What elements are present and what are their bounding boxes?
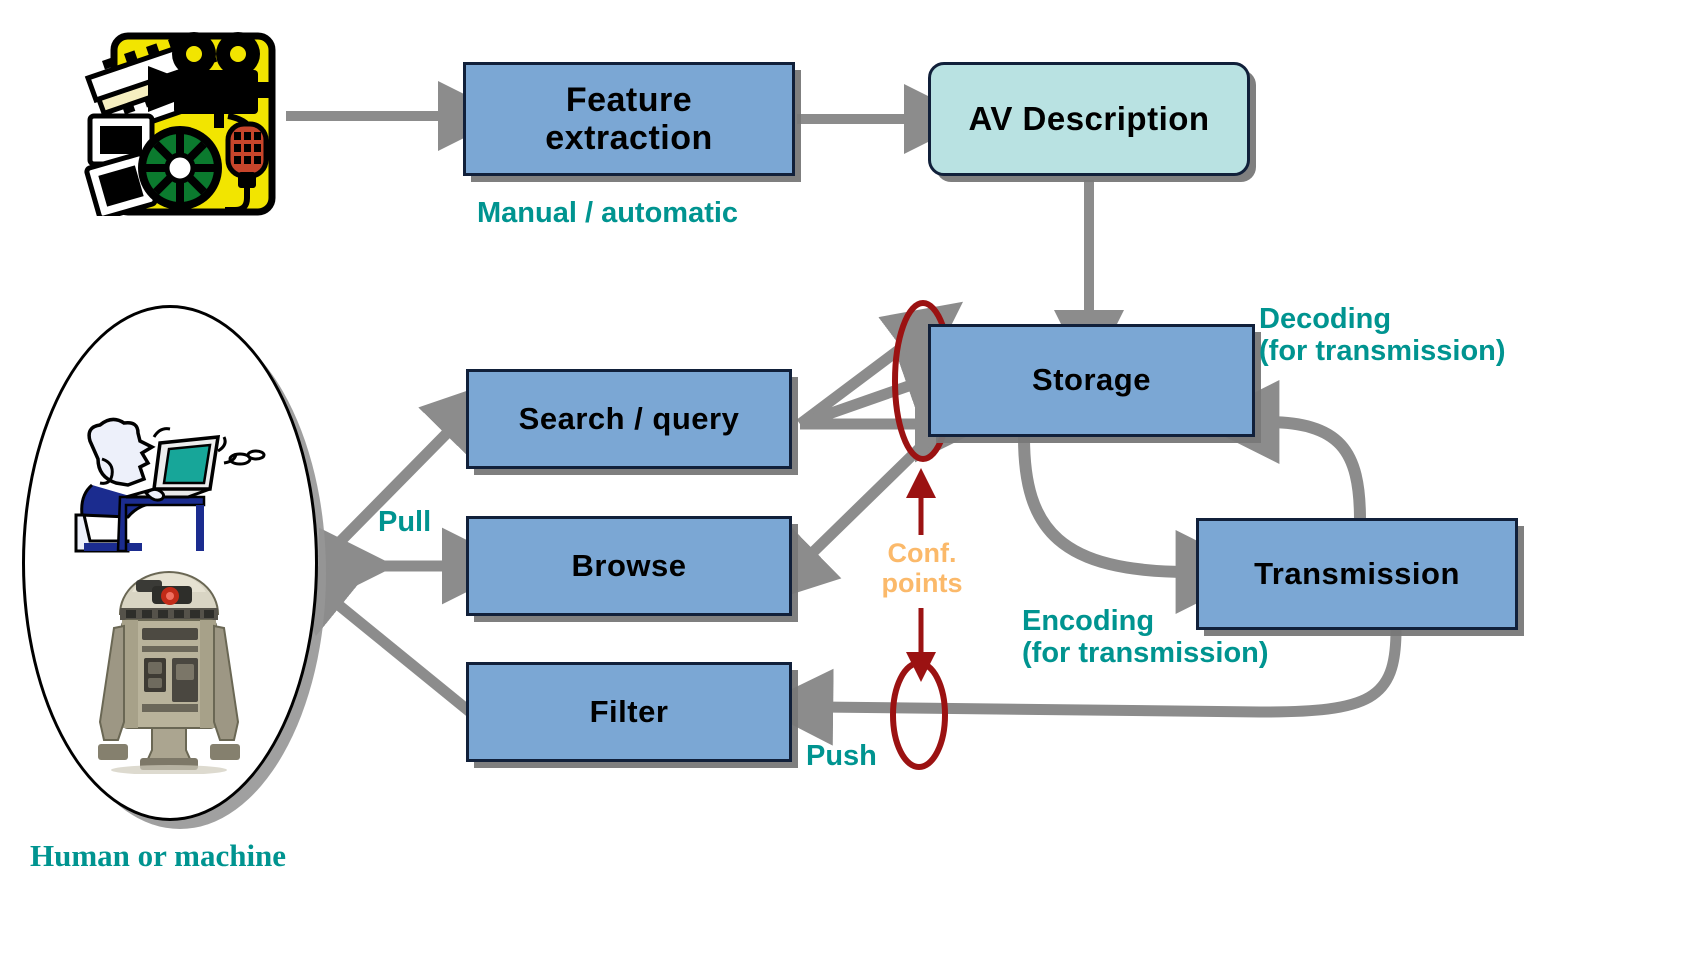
av-description-box[interactable]: AV Description (928, 62, 1250, 176)
feature-extraction-box[interactable]: Feature extraction (463, 62, 795, 176)
edge-transmission-to-storage (1265, 422, 1360, 520)
multimedia-icon (78, 28, 278, 216)
push-label: Push (806, 740, 877, 772)
human-or-machine-label: Human or machine (30, 838, 286, 874)
manual-automatic-label: Manual / automatic (477, 197, 738, 229)
edge-search-to-storage-b (800, 382, 920, 424)
search-query-box[interactable]: Search / query (466, 369, 792, 469)
droid-robot-icon (96, 558, 242, 774)
filter-label: Filter (590, 695, 669, 730)
transmission-label: Transmission (1254, 557, 1460, 592)
diagram-canvas: Feature extraction AV Description Storag… (0, 0, 1695, 973)
edge-filter-to-oval (330, 598, 470, 712)
feature-extraction-label: Feature extraction (545, 81, 713, 157)
conf-point-ring-lower (893, 663, 945, 767)
storage-box[interactable]: Storage (928, 324, 1255, 437)
conf-points-label: Conf. points (861, 538, 983, 598)
edge-storage-to-transmission (1024, 437, 1190, 572)
encoding-label: Encoding (for transmission) (1022, 605, 1269, 670)
edge-oval-to-search (322, 425, 455, 560)
browse-label: Browse (572, 549, 687, 584)
pull-label: Pull (378, 506, 431, 538)
av-description-label: AV Description (968, 101, 1209, 138)
decoding-label: Decoding (for transmission) (1259, 303, 1506, 368)
person-at-laptop-icon (68, 415, 268, 555)
search-query-label: Search / query (519, 402, 740, 437)
browse-box[interactable]: Browse (466, 516, 792, 616)
storage-label: Storage (1032, 363, 1151, 398)
filter-box[interactable]: Filter (466, 662, 792, 762)
